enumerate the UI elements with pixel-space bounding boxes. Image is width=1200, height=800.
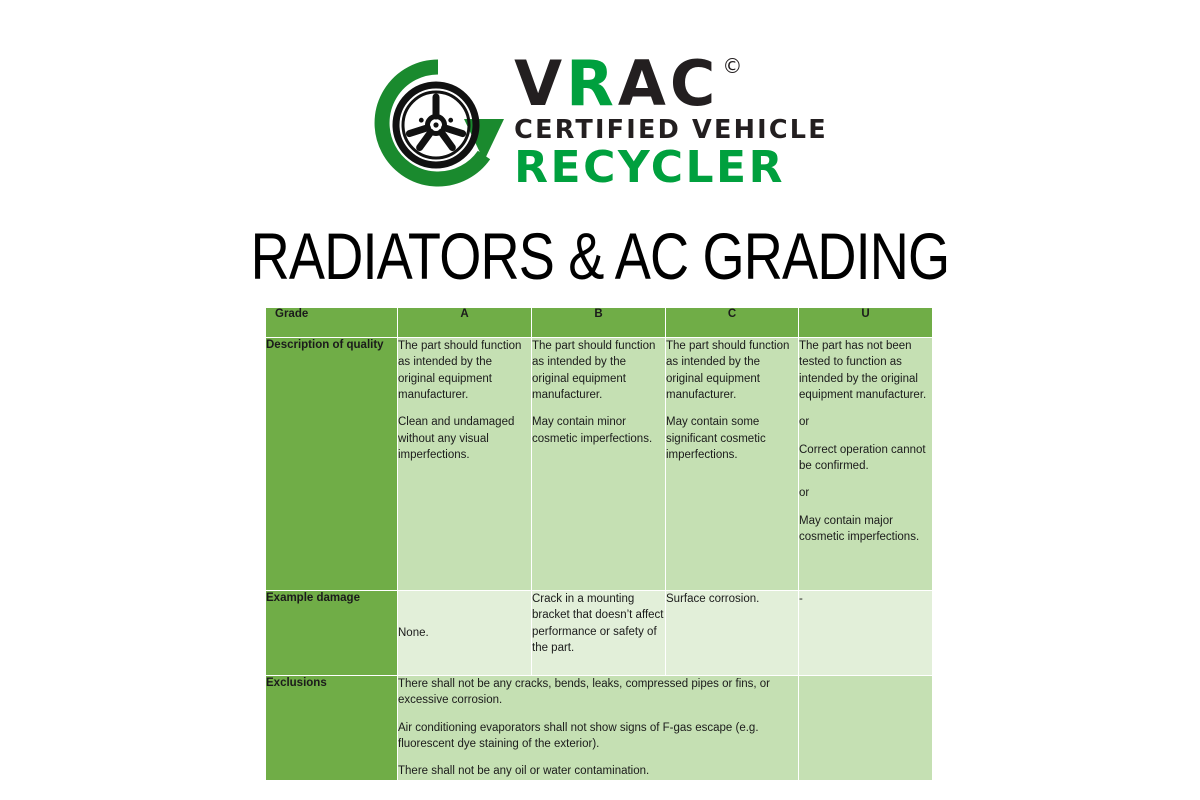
table-row-exclusions: Exclusions There shall not be any cracks… [266, 676, 933, 781]
cell-description-c: The part should function as intended by … [666, 338, 799, 591]
cell-paragraph: May contain major cosmetic imperfections… [799, 513, 932, 546]
logo-tagline-recycler: RECYCLER [514, 146, 785, 190]
cell-paragraph: None. [398, 625, 531, 641]
page-root: V R A C © CERTIFIED VEHICLE RECYCLER RAD… [0, 0, 1200, 800]
cell-paragraph: Air conditioning evaporators shall not s… [398, 720, 798, 753]
logo-letter-c: C [670, 55, 720, 114]
cell-paragraph: May contain minor cosmetic imperfections… [532, 414, 665, 447]
row-label-exclusions: Exclusions [266, 676, 398, 781]
cell-description-a: The part should function as intended by … [398, 338, 532, 591]
cell-paragraph: Crack in a mounting bracket that doesn’t… [532, 591, 665, 656]
page-title: RADIATORS & AC GRADING [108, 218, 1092, 294]
logo-letter-v: V [514, 55, 566, 114]
row-label-description-of-quality: Description of quality [266, 338, 398, 591]
cell-paragraph: The part has not been tested to function… [799, 338, 932, 403]
logo-tagline-certified-vehicle: CERTIFIED VEHICLE [514, 118, 828, 144]
cell-description-b: The part should function as intended by … [532, 338, 666, 591]
cell-paragraph: - [799, 591, 932, 607]
table-row-example-damage: Example damage None. Crack in a mounting… [266, 591, 933, 676]
cell-paragraph: There shall not be any oil or water cont… [398, 763, 798, 779]
cell-example-u: - [799, 591, 933, 676]
table-header-row: Grade A B C U [266, 308, 933, 338]
cell-description-u: The part has not been tested to function… [799, 338, 933, 591]
cell-paragraph: The part should function as intended by … [666, 338, 798, 403]
cell-example-b: Crack in a mounting bracket that doesn’t… [532, 591, 666, 676]
header-grade-u: U [799, 308, 933, 338]
cell-paragraph: Surface corrosion. [666, 591, 798, 607]
cell-exclusions-u [799, 676, 933, 781]
cell-paragraph: Correct operation cannot be confirmed. [799, 442, 932, 475]
logo-letter-a: A [618, 55, 670, 114]
logo-letter-r: R [566, 55, 618, 114]
header-grade-label: Grade [266, 308, 398, 338]
copyright-icon: © [722, 57, 746, 76]
row-label-example-damage: Example damage [266, 591, 398, 676]
cell-exclusions-merged: There shall not be any cracks, bends, le… [398, 676, 799, 781]
header-grade-b: B [532, 308, 666, 338]
cell-example-c: Surface corrosion. [666, 591, 799, 676]
table-row-description-of-quality: Description of quality The part should f… [266, 338, 933, 591]
logo-wordmark: V R A C © CERTIFIED VEHICLE RECYCLER [514, 55, 828, 190]
grading-table: Grade A B C U Description of quality The… [265, 307, 933, 781]
cell-paragraph: or [799, 485, 932, 501]
wheel-rim-with-recycle-arrow-icon [372, 57, 504, 189]
vrac-logo: V R A C © CERTIFIED VEHICLE RECYCLER [0, 55, 1200, 190]
header-grade-a: A [398, 308, 532, 338]
cell-paragraph: There shall not be any cracks, bends, le… [398, 676, 798, 709]
header-grade-c: C [666, 308, 799, 338]
cell-paragraph: May contain some significant cosmetic im… [666, 414, 798, 463]
cell-paragraph: The part should function as intended by … [532, 338, 665, 403]
cell-paragraph: The part should function as intended by … [398, 338, 531, 403]
cell-paragraph: Clean and undamaged without any visual i… [398, 414, 531, 463]
logo-brand-row: V R A C © [514, 55, 746, 114]
cell-example-a: None. [398, 591, 532, 676]
cell-paragraph: or [799, 414, 932, 430]
logo-inner: V R A C © CERTIFIED VEHICLE RECYCLER [372, 55, 828, 190]
